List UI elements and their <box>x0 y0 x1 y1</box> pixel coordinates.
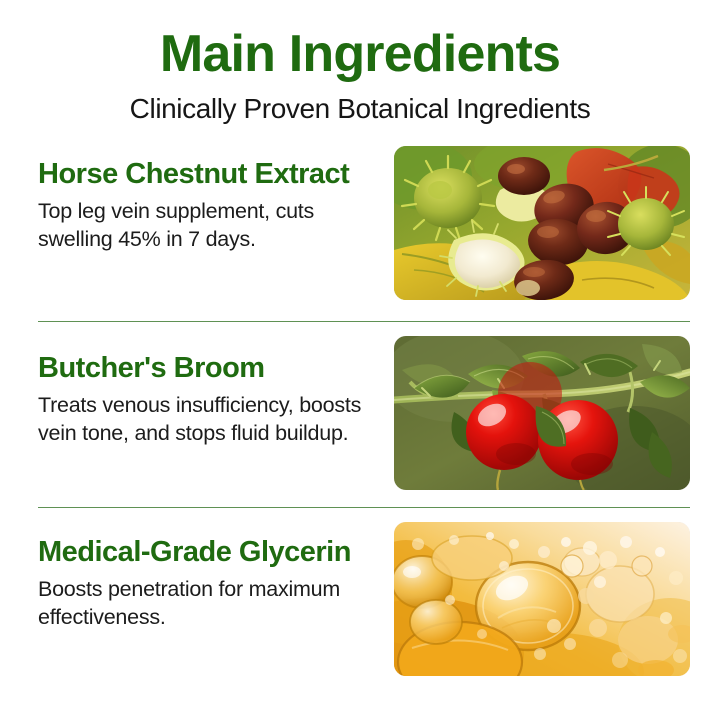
list-item: Butcher's Broom Treats venous insufficie… <box>38 336 690 494</box>
header: Main Ingredients Clinically Proven Botan… <box>0 0 720 126</box>
ingredient-text-block: Butcher's Broom Treats venous insufficie… <box>38 336 368 448</box>
ingredient-text-block: Horse Chestnut Extract Top leg vein supp… <box>38 146 368 254</box>
section-divider <box>38 507 690 508</box>
page-subtitle: Clinically Proven Botanical Ingredients <box>0 92 720 126</box>
list-item: Medical-Grade Glycerin Boosts penetratio… <box>38 522 690 682</box>
page-title: Main Ingredients <box>0 26 720 82</box>
ingredients-infographic: Main Ingredients Clinically Proven Botan… <box>0 0 720 720</box>
ingredient-description: Boosts penetration for maximum effective… <box>38 575 368 632</box>
ingredient-name: Horse Chestnut Extract <box>38 158 368 191</box>
glycerin-photo <box>394 522 690 676</box>
ingredient-name: Butcher's Broom <box>38 352 368 385</box>
ingredient-description: Top leg vein supplement, cuts swelling 4… <box>38 197 368 254</box>
horse-chestnut-photo <box>394 146 690 300</box>
butchers-broom-photo <box>394 336 690 490</box>
ingredient-description: Treats venous insufficiency, boosts vein… <box>38 391 368 448</box>
ingredient-text-block: Medical-Grade Glycerin Boosts penetratio… <box>38 522 368 632</box>
ingredient-name: Medical-Grade Glycerin <box>38 536 368 569</box>
list-item: Horse Chestnut Extract Top leg vein supp… <box>38 146 690 306</box>
section-divider <box>38 321 690 322</box>
ingredient-list: Horse Chestnut Extract Top leg vein supp… <box>0 146 720 682</box>
